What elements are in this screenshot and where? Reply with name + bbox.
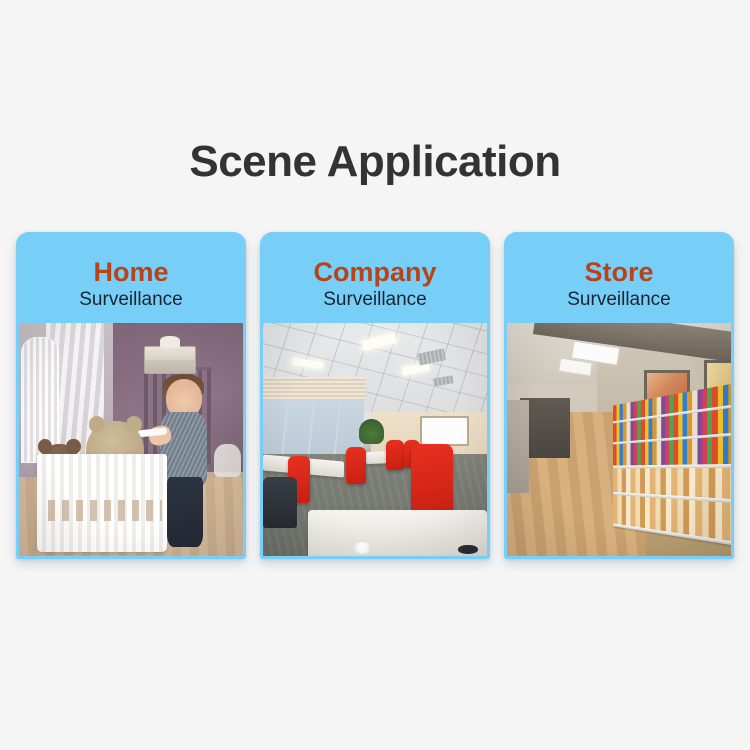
card-subtitle: Surveillance [512, 289, 726, 311]
nursery-suitcases [144, 346, 195, 374]
card-header-home: Home Surveillance [16, 232, 246, 323]
child-legs [167, 477, 203, 547]
scene-card-company[interactable]: Company Surveillance [260, 232, 490, 559]
child-body [160, 412, 207, 487]
office-chair-red [386, 440, 404, 470]
store-left-shelving [507, 400, 529, 493]
toy-cart-heart-cutouts [41, 500, 162, 521]
card-photo-home [19, 323, 243, 556]
card-photo-company [263, 323, 487, 556]
scene-application-page: Scene Application Home Surveillance [0, 0, 750, 750]
card-header-company: Company Surveillance [260, 232, 490, 323]
page-title: Scene Application [0, 138, 750, 186]
office-whiteboard [420, 416, 469, 446]
nursery-deer-toy [214, 444, 241, 477]
office-chair-dark [263, 477, 297, 528]
office-plant [359, 419, 384, 445]
card-photo-store [507, 323, 731, 556]
card-subtitle: Surveillance [24, 289, 238, 311]
scene-card-home[interactable]: Home Surveillance [16, 232, 246, 559]
desk-cup [353, 542, 371, 554]
office-chair-red [346, 447, 366, 484]
card-subtitle: Surveillance [268, 289, 482, 311]
card-header-store: Store Surveillance [504, 232, 734, 323]
computer-mouse [458, 545, 478, 554]
store-shelf-unit [613, 384, 731, 556]
window-blinds [263, 377, 366, 400]
scene-card-store[interactable]: Store Surveillance [504, 232, 734, 559]
office-chair-red-foreground [411, 444, 454, 516]
card-title: Store [512, 258, 726, 286]
scene-card-row: Home Surveillance [16, 232, 734, 559]
card-title: Home [24, 258, 238, 286]
card-title: Company [268, 258, 482, 286]
nursery-figurine [160, 336, 180, 348]
